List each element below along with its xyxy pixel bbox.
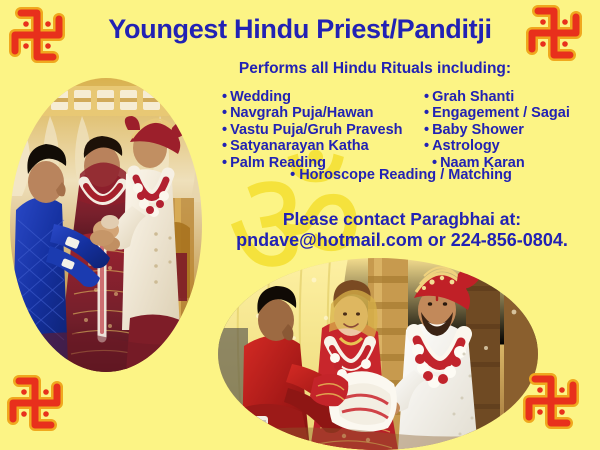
photo-wedding-right	[218, 258, 538, 450]
flyer-canvas: ॐ	[0, 0, 600, 450]
list-item: •Engagement / Sagai	[418, 105, 594, 121]
list-item: •Vastu Puja/Gruh Pravesh	[222, 122, 418, 138]
photo-wedding-left	[10, 78, 202, 372]
service-label: Navgrah Puja/Hawan	[230, 105, 373, 121]
bullet-icon: •	[222, 89, 227, 105]
service-label: Vastu Puja/Gruh Pravesh	[230, 122, 402, 138]
swastika-icon-bottom-left	[6, 374, 64, 432]
list-item: •Satyanarayan Katha	[222, 138, 418, 154]
bullet-icon: •	[222, 105, 227, 121]
bullet-icon: •	[424, 105, 429, 121]
services-list: •Wedding •Navgrah Puja/Hawan •Vastu Puja…	[222, 89, 594, 171]
photo-right-artwork	[218, 258, 538, 450]
services-column-right: •Grah Shanti •Engagement / Sagai •Baby S…	[418, 89, 594, 171]
service-label: Satyanarayan Katha	[230, 138, 369, 154]
photo-left-artwork	[10, 78, 202, 372]
services-column-left: •Wedding •Navgrah Puja/Hawan •Vastu Puja…	[222, 89, 418, 171]
swastika-icon-top-left	[8, 6, 66, 64]
service-label: Wedding	[230, 89, 291, 105]
subtitle: Performs all Hindu Rituals including:	[215, 60, 535, 78]
list-item: •Grah Shanti	[418, 89, 594, 105]
service-label: Grah Shanti	[432, 89, 514, 105]
list-item: •Wedding	[222, 89, 418, 105]
bullet-icon: •	[424, 89, 429, 105]
list-item: •Baby Shower	[418, 122, 594, 138]
service-label: Astrology	[432, 138, 500, 154]
list-item: •Navgrah Puja/Hawan	[222, 105, 418, 121]
service-label: Baby Shower	[432, 122, 524, 138]
bullet-icon: •	[222, 138, 227, 154]
swastika-icon-top-right	[525, 4, 583, 62]
swastika-icon-bottom-right	[522, 372, 580, 430]
list-item: •Astrology	[418, 138, 594, 154]
contact-name-line: Please contact Paragbhai at:	[212, 209, 592, 230]
bullet-icon: •	[222, 122, 227, 138]
bullet-icon: •	[424, 122, 429, 138]
contact-email-phone-line: pndave@hotmail.com or 224-856-0804.	[212, 230, 592, 251]
service-label: Engagement / Sagai	[432, 105, 570, 121]
service-horoscope: • Horoscope Reading / Matching	[215, 167, 587, 183]
bullet-icon: •	[424, 138, 429, 154]
page-title: Youngest Hindu Priest/Panditji	[70, 14, 530, 45]
contact-block: Please contact Paragbhai at: pndave@hotm…	[212, 209, 592, 251]
